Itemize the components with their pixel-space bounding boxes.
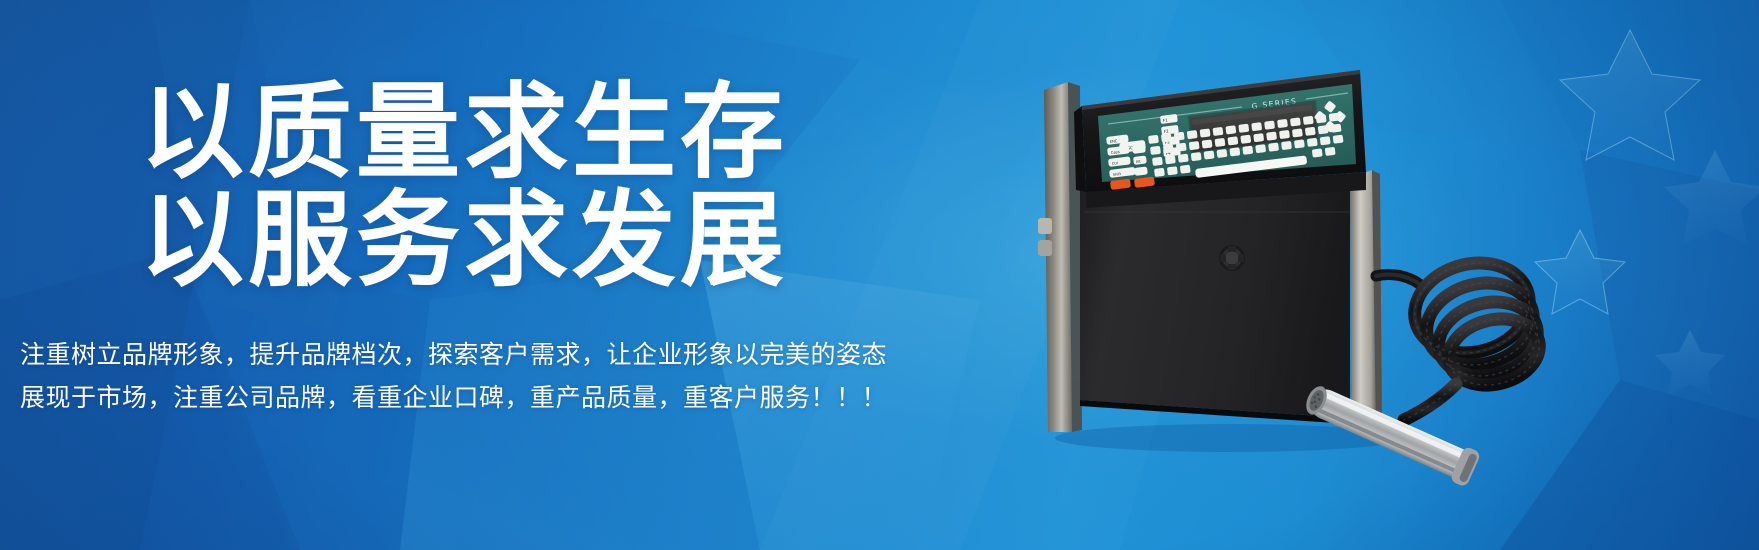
subtitle: 注重树立品牌形象，提升品牌档次，探索客户需求，让企业形象以完美的姿态 展现于市场…	[20, 333, 980, 419]
subtitle-line-2: 展现于市场，注重公司品牌，看重企业口碑，重产品质量，重客户服务！！！	[20, 376, 980, 419]
headline: 以质量求生存 以服务求发展	[140, 78, 788, 294]
promo-banner: 以质量求生存 以服务求发展 注重树立品牌形象，提升品牌档次，探索客户需求，让企业…	[0, 0, 1759, 550]
right-rail	[1350, 170, 1376, 428]
inkjet-printer-product-image: G SERIES F1 F2 F3	[1020, 40, 1580, 490]
printer-cabinet	[1080, 190, 1350, 418]
svg-text:Ctrl: Ctrl	[1112, 161, 1119, 166]
conduit-cable	[1376, 251, 1546, 420]
headline-line-1: 以质量求生存	[140, 71, 788, 193]
headline-line-2: 以服务求发展	[140, 186, 788, 294]
subtitle-line-1: 注重树立品牌形象，提升品牌档次，探索客户需求，让企业形象以完美的姿态	[20, 333, 980, 376]
copy-block: 以质量求生存 以服务求发展 注重树立品牌形象，提升品牌档次，探索客户需求，让企业…	[0, 0, 1000, 550]
left-rail	[1044, 82, 1072, 432]
cabinet-lock-icon	[1219, 245, 1245, 271]
